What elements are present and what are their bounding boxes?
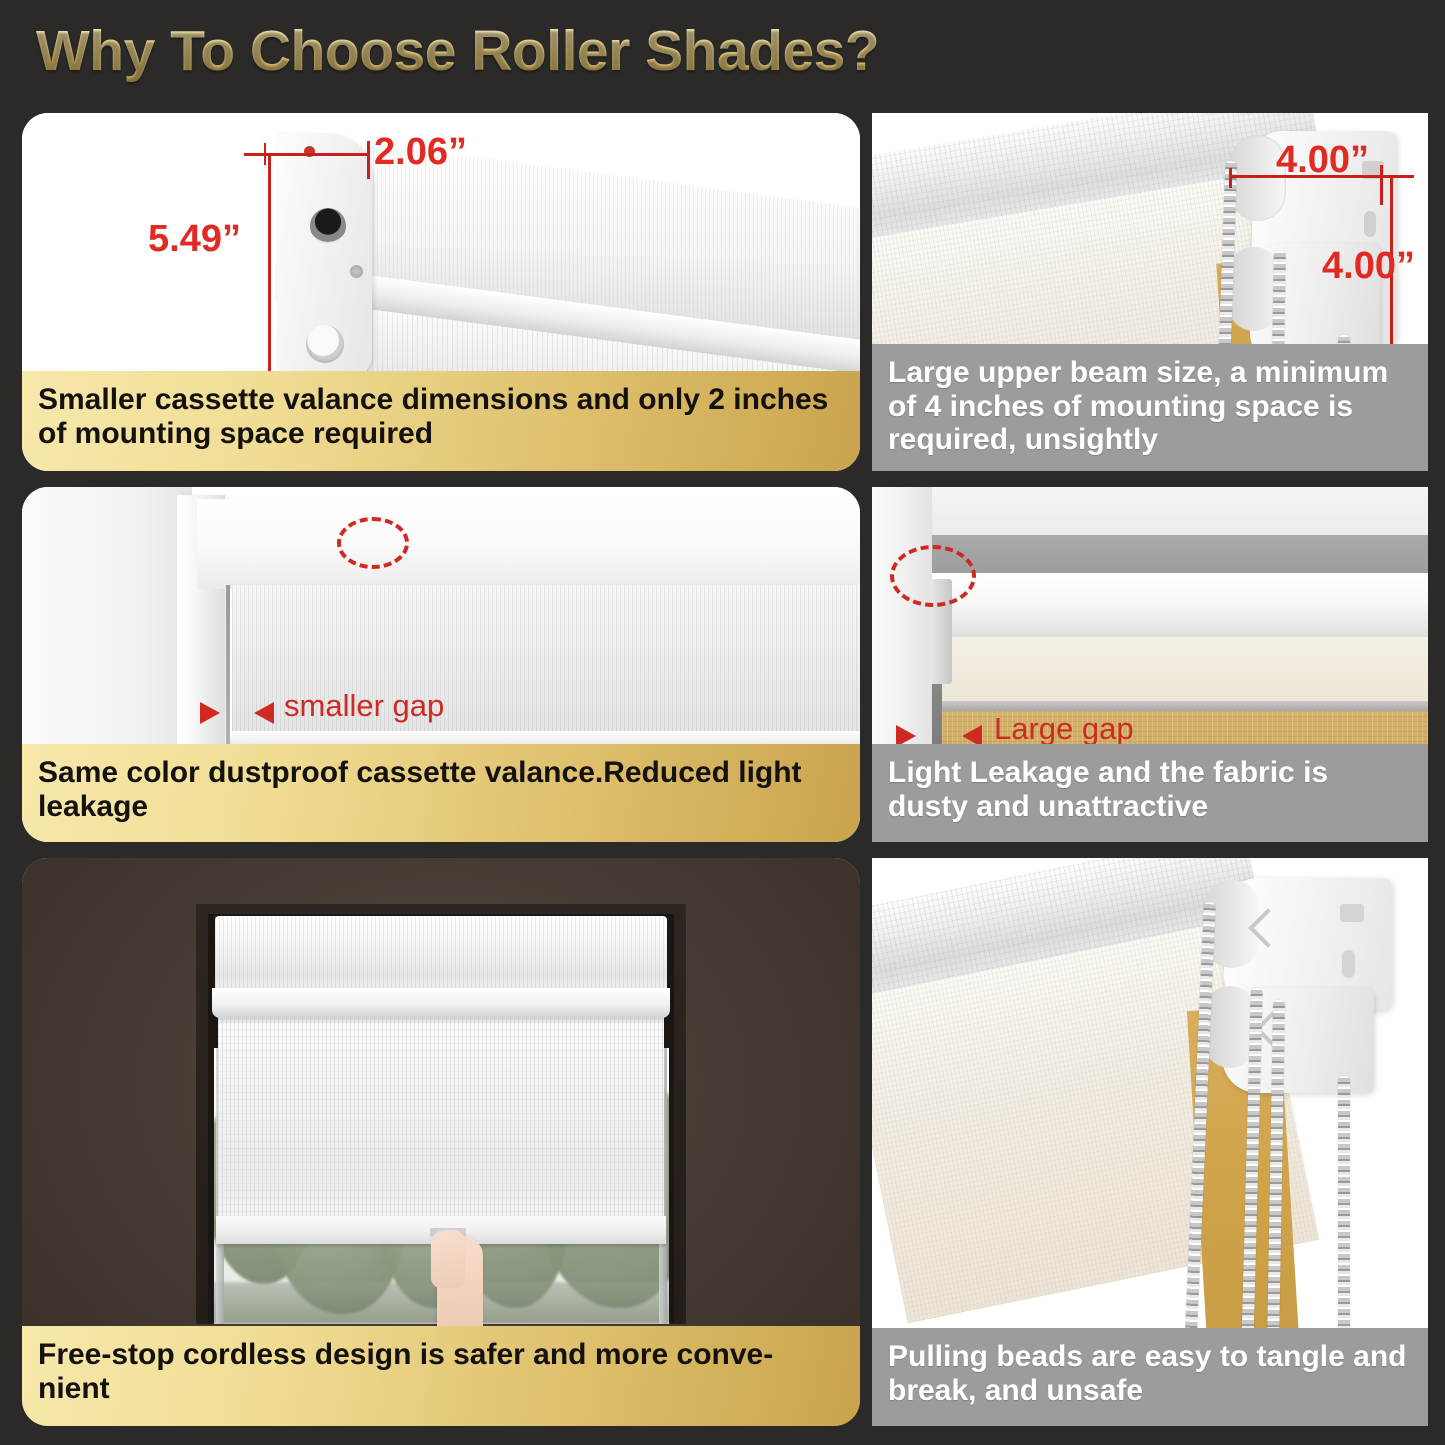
gap-label-smaller: smaller gap xyxy=(284,688,444,724)
panel-cassette-valance-dimensions: 2.06” 5.49” Smaller cassette valance dim… xyxy=(22,113,860,471)
panel-cordless-design: Free-stop cordless design is safer and m… xyxy=(22,858,860,1426)
valance-bar xyxy=(932,573,1428,641)
gap-arrow-left-icon xyxy=(254,702,274,724)
ceiling-surface xyxy=(872,487,1428,535)
dim-height-line xyxy=(268,153,271,398)
valance-slot xyxy=(310,208,346,244)
caption-large-upper-beam: Large upper beam size, a minimum of 4 in… xyxy=(872,344,1428,471)
dim-height-tick-top xyxy=(244,153,274,156)
valance-screw xyxy=(350,265,363,278)
dim-width-label: 2.06” xyxy=(374,131,467,174)
fabric-edge-rail xyxy=(938,701,1428,711)
dim-beam-width-tick-right xyxy=(1380,165,1383,205)
dim-beam-height-label: 4.00” xyxy=(1322,245,1415,288)
roller-shade-fabric xyxy=(218,1016,664,1226)
dim-beam-height-tick-top xyxy=(1384,175,1414,178)
dim-beam-width-label: 4.00” xyxy=(1276,139,1369,182)
bead-chain-4 xyxy=(1338,1076,1350,1354)
bracket-notch-side xyxy=(1364,211,1376,237)
caption-smaller-gap: Same color dustproof cassette valance.Re… xyxy=(22,744,860,842)
callout-circle-icon xyxy=(890,545,976,607)
cream-fabric-band xyxy=(942,637,1428,703)
bracket-notch-side xyxy=(1342,950,1355,978)
valance-knob xyxy=(306,325,344,363)
gap-arrow-right-icon xyxy=(200,702,220,724)
caption-cassette-valance-dimensions: Smaller cassette valance dimensions and … xyxy=(22,371,860,471)
cassette-valance xyxy=(215,916,667,994)
panel-pulling-beads: Pulling beads are easy to tangle and bre… xyxy=(872,858,1428,1426)
dim-height-label: 5.49” xyxy=(148,218,241,261)
caption-pulling-beads: Pulling beads are easy to tangle and bre… xyxy=(872,1328,1428,1426)
recess-shadow xyxy=(928,535,1428,577)
caption-cordless-design: Free-stop cordless design is safer and m… xyxy=(22,1326,860,1426)
callout-circle-icon xyxy=(337,517,409,569)
panel-smaller-gap: smaller gap Same color dustproof cassett… xyxy=(22,487,860,842)
panel-large-upper-beam: 4.00” 4.00” Large upper beam size, a min… xyxy=(872,113,1428,471)
dim-width-line xyxy=(264,153,369,156)
hand-fingers xyxy=(431,1230,465,1288)
gap-label-large: Large gap xyxy=(994,711,1134,747)
valance-lip xyxy=(212,988,670,1018)
bracket-notch-top xyxy=(1340,904,1364,922)
window-head-trim xyxy=(197,499,860,589)
comparison-grid: 2.06” 5.49” Smaller cassette valance dim… xyxy=(0,0,1445,1445)
dim-width-tick-right xyxy=(367,141,370,179)
panel-large-gap: Large gap Light Leakage and the fabric i… xyxy=(872,487,1428,842)
caption-large-gap: Light Leakage and the fabric is dusty an… xyxy=(872,744,1428,842)
dim-beam-width-tick-left xyxy=(1229,168,1232,188)
